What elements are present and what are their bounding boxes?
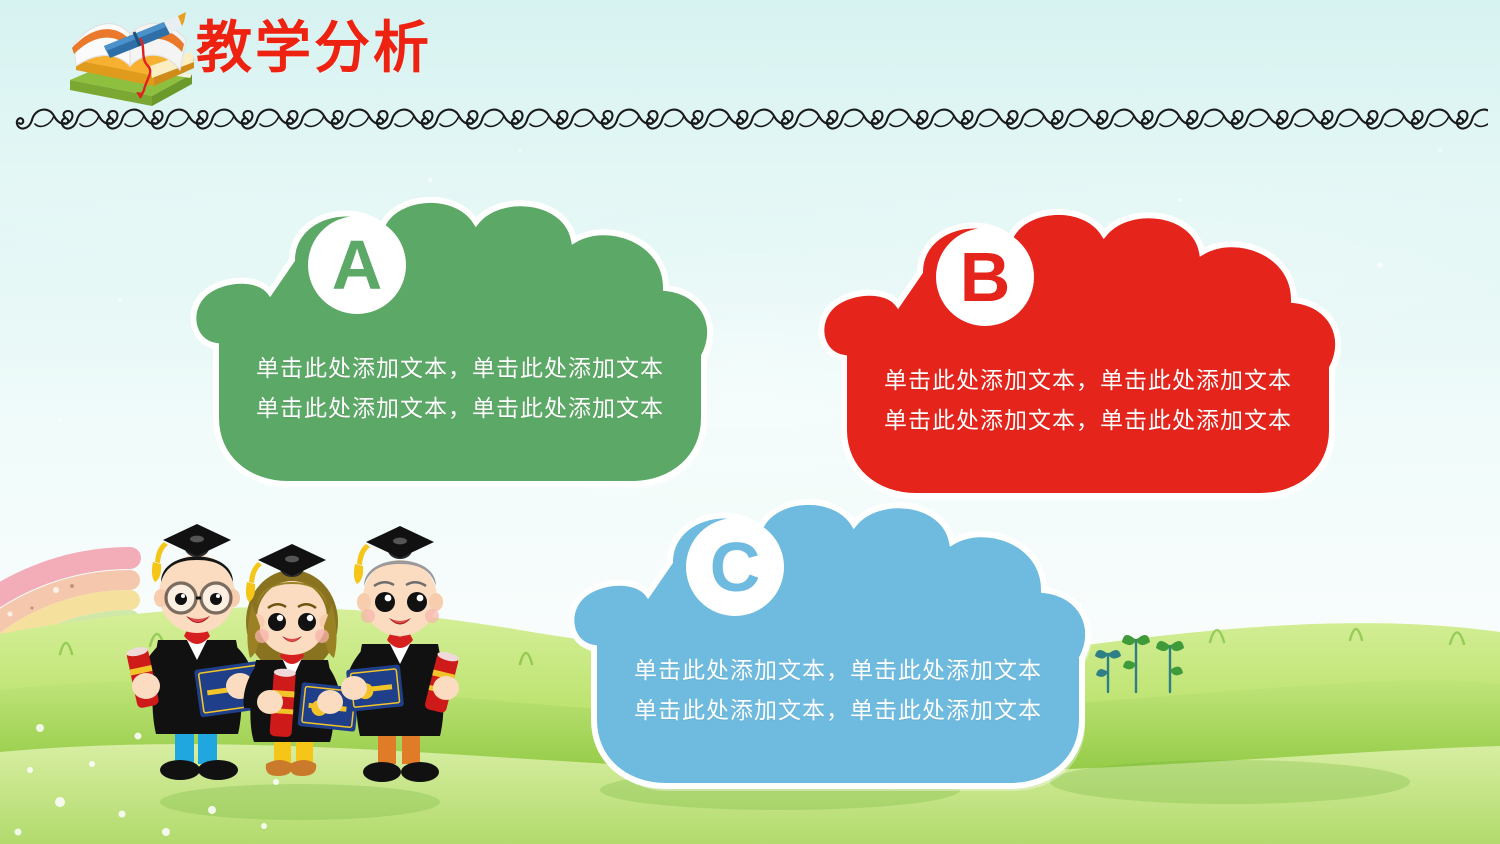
badge-b: B xyxy=(936,228,1034,326)
slide-header: 教学分析 xyxy=(0,0,1500,140)
cloud-shape-c xyxy=(558,498,1118,798)
cloud-card-c[interactable]: C 单击此处添加文本，单击此处添加文本 单击此处添加文本，单击此处添加文本 xyxy=(558,498,1118,798)
badge-a: A xyxy=(308,216,406,314)
book-stack-icon xyxy=(54,4,204,112)
cloud-card-b[interactable]: B 单击此处添加文本，单击此处添加文本 单击此处添加文本，单击此处添加文本 xyxy=(808,208,1368,508)
ornamental-flourish-divider xyxy=(14,100,1488,134)
slide-canvas: 教学分析 xyxy=(0,0,1500,844)
cloud-shape-b xyxy=(808,208,1368,508)
cloud-card-a[interactable]: A 单击此处添加文本，单击此处添加文本 单击此处添加文本，单击此处添加文本 xyxy=(180,196,740,496)
three-graduating-children-illustration xyxy=(118,512,488,802)
cloud-shape-a xyxy=(180,196,740,496)
page-title: 教学分析 xyxy=(196,21,432,77)
badge-c: C xyxy=(686,518,784,616)
